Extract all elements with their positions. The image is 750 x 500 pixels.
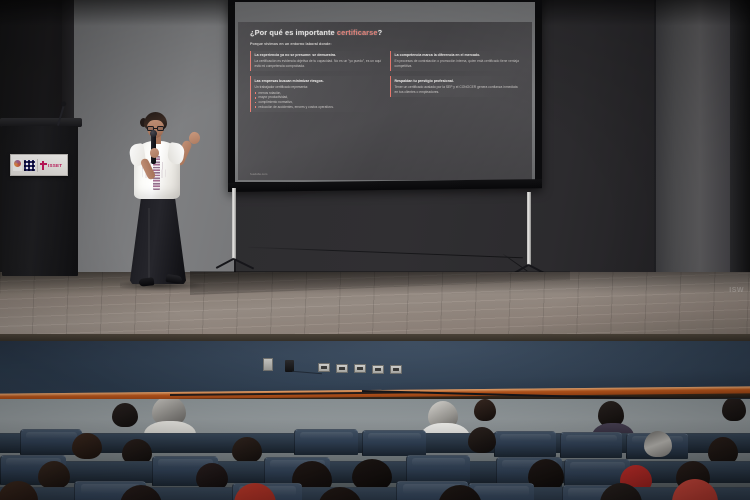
slide-card-heading: Las empresas buscan minimizar riesgos. [255, 79, 383, 84]
slide-card-body: La certificación es evidencia objetiva d… [255, 59, 383, 68]
audience-head [38, 461, 70, 489]
screen-surface: ¿Por qué es importante certificarse? Por… [235, 2, 535, 182]
auditorium-seat[interactable] [560, 432, 622, 458]
slide-subtitle: Porque vivimos en un entorno laboral don… [250, 42, 522, 46]
slide-card-competence: La competencia marca la diferencia en el… [390, 51, 522, 72]
wall-plate-grey [263, 358, 273, 371]
wall-edge-right [730, 0, 750, 300]
logo-divider [37, 159, 38, 172]
auditorium-seat[interactable] [362, 430, 426, 456]
audience-head [722, 399, 746, 421]
slide-title-highlight: certificarse [337, 28, 378, 37]
presenter-shoe-left [139, 277, 155, 287]
audience-head [474, 399, 496, 421]
power-outlet-2[interactable] [336, 364, 348, 373]
slide-title-before: ¿Por qué es importante [250, 28, 337, 37]
slide-canvas: ¿Por qué es importante certificarse? Por… [238, 22, 532, 180]
presenter [118, 112, 214, 290]
slide-card-experience: La experiencia ya no se presume: se demu… [250, 51, 382, 72]
power-outlet-5[interactable] [390, 365, 402, 374]
government-seal-logo-icon [13, 159, 22, 171]
presenter-left-hand [150, 148, 159, 158]
power-outlet-4[interactable] [372, 365, 384, 374]
wall-seam-b [654, 0, 656, 292]
lectern-podium: ISSET [0, 118, 86, 278]
slide-card-heading: La competencia marca la diferencia en el… [395, 53, 523, 58]
audience-head [468, 427, 496, 453]
auditorium-seat[interactable] [294, 429, 358, 455]
lens-right [157, 126, 164, 131]
slide-column-right: La competencia marca la diferencia en el… [390, 51, 522, 118]
microphone-head-icon [150, 130, 157, 137]
slide-card-prestige: Respaldan tu prestigio profesional. Tene… [390, 76, 522, 97]
auditorium-presentation-photo: ¿Por qué es importante certificarse? Por… [0, 0, 750, 500]
slide-column-left: La experiencia ya no se presume: se demu… [250, 51, 382, 118]
list-item: reducción de accidentes, errores y costo… [255, 105, 383, 110]
isset-wordmark: ISSET [48, 163, 62, 168]
audience-head [112, 403, 138, 427]
auditorium-seat[interactable] [494, 431, 556, 457]
slide-title-after: ? [378, 28, 383, 37]
qr-code-logo-icon [24, 160, 35, 171]
isset-logo-icon: ISSET [40, 161, 66, 170]
slide-card-bullet-list: menos rotación, mayor productividad, cum… [255, 91, 383, 109]
screen-support-pole-left [232, 188, 236, 260]
power-outlet-3[interactable] [354, 364, 366, 373]
podium-logo-banner: ISSET [10, 154, 68, 176]
isset-cross-mark-icon [40, 161, 47, 170]
slide-card-body: Un trabajador certificado representa: [255, 85, 383, 90]
slide-card-risks: Las empresas buscan minimizar riesgos. U… [250, 76, 382, 112]
slide-card-heading: Respaldan tu prestigio profesional. [395, 79, 523, 84]
slide-card-body: Tener un certificado avalado por la SEP … [395, 85, 523, 94]
projection-screen: ¿Por qué es importante certificarse? Por… [228, 0, 542, 190]
power-outlet-1[interactable] [318, 363, 330, 372]
stage-floor [0, 272, 750, 342]
audience-area [0, 399, 750, 500]
slide-card-body: En procesos de contratación o promoción … [395, 59, 523, 68]
audience-head [72, 433, 102, 459]
audience-head [644, 431, 672, 457]
presenter-long-skirt [130, 196, 186, 284]
audience-head [232, 437, 262, 463]
slide-title: ¿Por qué es importante certificarse? [250, 28, 522, 37]
slide-footer-text: l'esdubs.com [250, 172, 267, 176]
presenter-skirt-fold [148, 208, 150, 280]
podium-body [2, 126, 78, 276]
slide-card-heading: La experiencia ya no se presume: se demu… [255, 53, 383, 58]
slide-two-column-grid: La experiencia ya no se presume: se demu… [250, 51, 522, 118]
photo-watermark: ISW [729, 287, 744, 294]
screen-support-pole-right [527, 192, 531, 266]
